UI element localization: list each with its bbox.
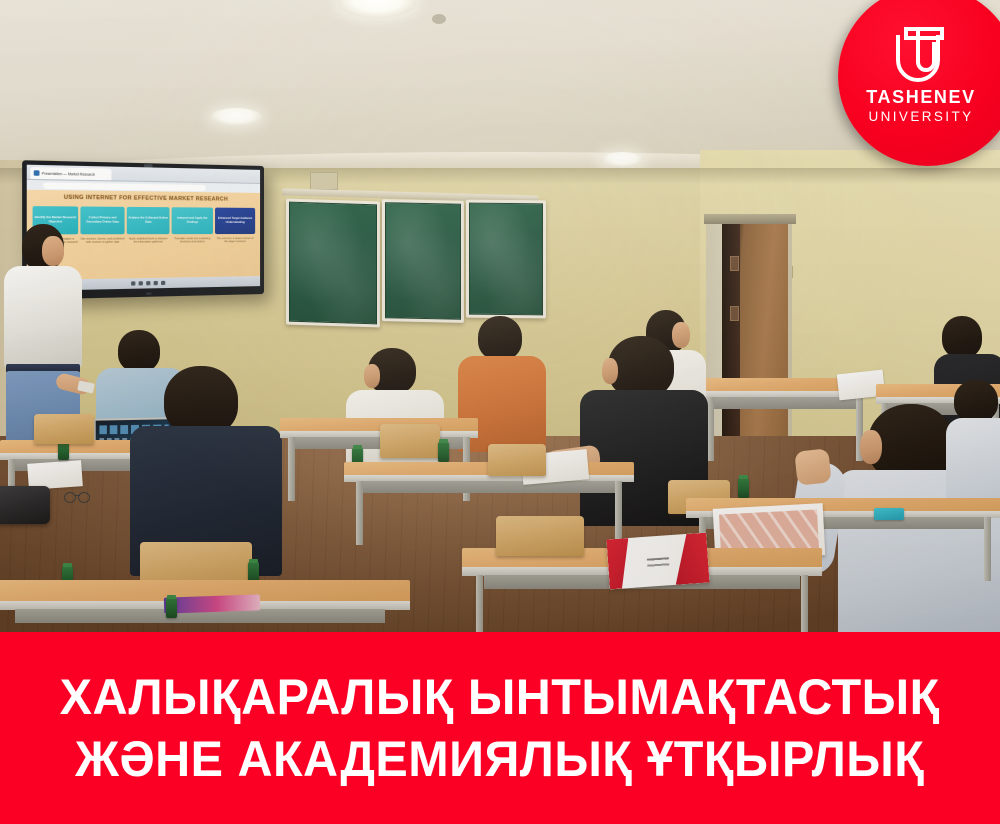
glasses-lens bbox=[78, 492, 90, 503]
teal-phone[interactable] bbox=[874, 508, 904, 520]
chalkboard-panel-center bbox=[382, 199, 464, 323]
chair-back bbox=[34, 414, 94, 444]
person-head bbox=[954, 380, 998, 422]
person-face bbox=[364, 364, 380, 388]
browser-tab[interactable]: Presentation — Market Research bbox=[30, 167, 111, 180]
person-torso bbox=[946, 418, 1000, 500]
ceiling-light-2 bbox=[210, 108, 262, 126]
bottle-cap bbox=[739, 475, 748, 479]
poster: Presentation — Market Research USING INT… bbox=[0, 0, 1000, 824]
taskbar-icon[interactable] bbox=[146, 281, 150, 285]
browser-tab-title: Presentation — Market Research bbox=[42, 171, 95, 176]
chalkboard-panel-left bbox=[286, 199, 380, 328]
chalkboard-surface bbox=[469, 203, 543, 316]
booklet-red-band bbox=[606, 538, 631, 589]
favicon-icon bbox=[34, 170, 40, 176]
flow-step-box: Analyse the Collected Online Data bbox=[127, 206, 170, 233]
title-banner: ХАЛЫҚАРАЛЫҚ ЫНТЫМАҚТАСТЫҚ ЖӘНЕ АКАДЕМИЯЛ… bbox=[0, 632, 1000, 824]
bottle-cap bbox=[63, 563, 72, 567]
presenter-shirt bbox=[4, 266, 82, 368]
backpack bbox=[0, 486, 50, 524]
booklet-red-band bbox=[672, 533, 709, 585]
flow-step: Analyse the Collected Online Data Apply … bbox=[127, 206, 170, 243]
flow-step: Interpret and Apply the Findings Transla… bbox=[172, 207, 213, 244]
flow-step-caption: Translate results into marketing decisio… bbox=[172, 237, 213, 244]
desk-leg bbox=[801, 575, 808, 632]
person-head bbox=[478, 316, 522, 360]
banner-line-2: ЖӘНЕ АКАДЕМИЯЛЫҚ ҰТҚЫРЛЫҚ bbox=[75, 733, 924, 786]
person-student bbox=[946, 380, 1000, 490]
red-white-booklet[interactable] bbox=[606, 533, 709, 590]
desk-leg bbox=[615, 481, 622, 545]
ceiling-light-3 bbox=[600, 152, 644, 167]
chair bbox=[496, 516, 584, 556]
chalkboard-group bbox=[286, 200, 546, 326]
door-hinge-upper bbox=[730, 256, 739, 271]
taskbar-icon[interactable] bbox=[161, 281, 165, 285]
flow-step: Enhanced Target Audience Understanding T… bbox=[215, 207, 255, 243]
flow-step-caption: The outcome: a clearer picture of the ta… bbox=[215, 237, 255, 244]
person-face bbox=[602, 358, 618, 384]
flow-step-box: Interpret and Apply the Findings bbox=[172, 207, 213, 234]
flow-step: Collect Primary and Secondary Online Dat… bbox=[80, 206, 124, 244]
slide-title: USING INTERNET FOR EFFECTIVE MARKET RESE… bbox=[33, 194, 256, 203]
glasses-bridge bbox=[74, 495, 80, 496]
chair-back bbox=[488, 444, 546, 476]
logo-wordmark: TASHENEV bbox=[866, 88, 975, 106]
flow-step-box: Collect Primary and Secondary Online Dat… bbox=[80, 206, 124, 234]
chalkboard-panel-right bbox=[466, 200, 546, 319]
desk-top bbox=[280, 418, 478, 432]
raised-hand bbox=[794, 448, 831, 485]
logo-subtitle: UNIVERSITY bbox=[868, 110, 973, 124]
chair bbox=[34, 414, 94, 444]
water-bottle bbox=[248, 562, 259, 582]
chair bbox=[488, 444, 546, 476]
taskbar-icon[interactable] bbox=[154, 281, 158, 285]
water-bottle bbox=[738, 478, 749, 498]
bottle-cap bbox=[249, 559, 258, 563]
chair-back bbox=[380, 424, 440, 458]
chair-back bbox=[496, 516, 584, 556]
person-head bbox=[942, 316, 982, 358]
bottle-cap bbox=[439, 439, 448, 443]
person-face bbox=[860, 430, 882, 464]
u-monogram-icon bbox=[890, 24, 952, 82]
chair bbox=[380, 424, 440, 458]
flow-step-caption: Use surveys, forums, and published web s… bbox=[80, 237, 124, 244]
wall-vent bbox=[310, 172, 338, 190]
presenter-face bbox=[42, 236, 64, 266]
flow-step-caption: Apply analytical tools to interpret the … bbox=[127, 237, 170, 244]
door-hinge-lower bbox=[730, 306, 739, 321]
door-lintel bbox=[704, 214, 796, 224]
eyeglasses bbox=[64, 492, 90, 502]
bottle-cap bbox=[167, 595, 176, 599]
stationery-items bbox=[164, 594, 260, 613]
chalkboard-surface bbox=[385, 202, 461, 320]
taskbar-icon[interactable] bbox=[139, 281, 143, 285]
taskbar-icon[interactable] bbox=[131, 281, 135, 285]
bottle-cap bbox=[353, 445, 362, 449]
display-led-icon bbox=[146, 293, 151, 295]
desk-leg bbox=[984, 517, 991, 581]
chalkboard-surface bbox=[289, 202, 377, 325]
desk-apron bbox=[361, 481, 616, 493]
glasses-lens bbox=[64, 492, 76, 503]
ceiling-light-4 bbox=[432, 14, 446, 24]
banner-line-1: ХАЛЫҚАРАЛЫҚ ЫНТЫМАҚТАСТЫҚ bbox=[60, 671, 940, 724]
desk-leg bbox=[476, 575, 483, 632]
booklet-logo-icon bbox=[647, 557, 670, 573]
flow-step-box: Enhanced Target Audience Understanding bbox=[215, 207, 255, 233]
desk-leg bbox=[288, 437, 295, 501]
water-bottle bbox=[166, 598, 177, 618]
water-bottle bbox=[438, 442, 449, 462]
desk-leg bbox=[356, 481, 363, 545]
